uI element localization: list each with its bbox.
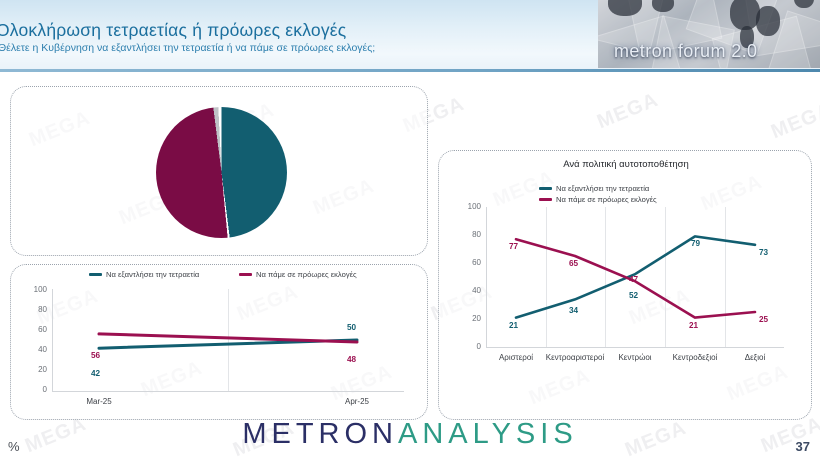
monthly-trend-panel: Να εξαντλήσει την τετραετία Να πάμε σε π…	[10, 264, 428, 420]
overall-pie-chart	[156, 107, 287, 238]
page-subtitle: Θέλετε η Κυβέρνηση να εξαντλήσει την τετ…	[0, 42, 375, 54]
overall-pie-panel	[10, 86, 428, 256]
series-line-magenta	[99, 334, 357, 342]
page-number: 37	[796, 439, 810, 454]
x-category-label: Apr-25	[327, 397, 387, 406]
x-category-label: Mar-25	[69, 397, 129, 406]
point-label-magenta-mar: 56	[91, 351, 100, 360]
political-series-svg	[439, 151, 813, 421]
point-label-teal-apr: 50	[347, 323, 356, 332]
watermark: MEGA	[768, 99, 820, 144]
brand-analysis: ANALYSIS	[398, 418, 578, 450]
slide-header: Ολοκλήρωση τετραετίας ή πρόωρες εκλογές …	[0, 0, 820, 72]
slide: MEGA MEGA MEGA MEGA MEGA MEGA MEGA MEGA …	[0, 0, 820, 457]
point-label-teal-2: 52	[629, 291, 638, 300]
brand-metron: METRON	[242, 418, 398, 450]
point-label-teal-0: 21	[509, 321, 518, 330]
political-selfplacement-panel: Ανά πολιτική αυτοτοποθέτηση Να εξαντλήσε…	[438, 150, 812, 420]
point-label-magenta-1: 65	[569, 259, 578, 268]
metron-analysis-logo: METRONANALYSIS	[0, 418, 820, 451]
political-selfplacement-chart: Ανά πολιτική αυτοτοποθέτηση Να εξαντλήσε…	[439, 151, 811, 419]
point-label-magenta-4: 25	[759, 315, 768, 324]
point-label-teal-1: 34	[569, 306, 578, 315]
point-label-magenta-apr: 48	[347, 355, 356, 364]
metron-forum-logo-text: metron forum 2.0	[614, 41, 757, 62]
monthly-trend-chart: Να εξαντλήσει την τετραετία Να πάμε σε π…	[11, 265, 427, 419]
point-label-teal-mar: 42	[91, 369, 100, 378]
point-label-teal-3: 79	[691, 239, 700, 248]
x-category-label: Δεξιοί	[725, 353, 785, 362]
point-label-teal-4: 73	[759, 248, 768, 257]
point-label-magenta-2: 47	[629, 275, 638, 284]
point-label-magenta-3: 21	[689, 321, 698, 330]
point-label-magenta-0: 77	[509, 242, 518, 251]
watermark: MEGA	[594, 89, 662, 134]
metron-forum-logo: metron forum 2.0	[598, 0, 820, 68]
page-title: Ολοκλήρωση τετραετίας ή πρόωρες εκλογές	[0, 20, 346, 41]
